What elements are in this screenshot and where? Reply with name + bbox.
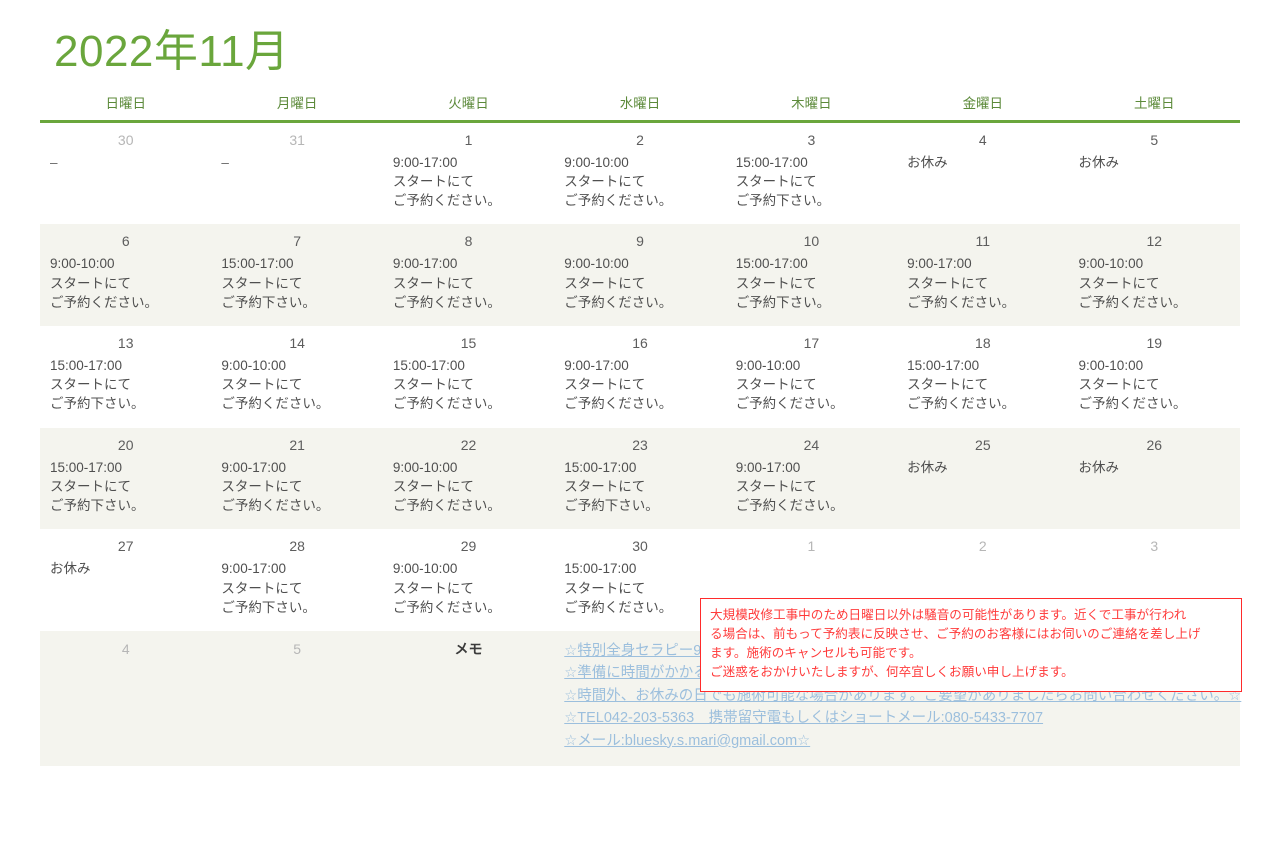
day-cell[interactable]: 1515:00-17:00 スタートにて ご予約ください。	[383, 326, 554, 428]
day-entry: –	[50, 153, 201, 172]
day-cell[interactable]: 4お休み	[897, 121, 1068, 224]
weekday-header-thursday: 木曜日	[726, 86, 897, 122]
day-cell[interactable]: 229:00-10:00 スタートにて ご予約ください。	[383, 428, 554, 530]
day-cell[interactable]: 149:00-10:00 スタートにて ご予約ください。	[211, 326, 382, 428]
day-entry: 9:00-10:00 スタートにて ご予約ください。	[1079, 356, 1230, 413]
notice-line-4: ご迷惑をおかけいたしますが、何卒宜しくお願い申し上げます。	[710, 663, 1232, 682]
weekday-header-row: 日曜日 月曜日 火曜日 水曜日 木曜日 金曜日 土曜日	[40, 86, 1240, 122]
day-number: 10	[736, 232, 887, 250]
notice-line-2: る場合は、前もって予約表に反映させ、ご予約のお客様にはお伺いのご連絡を差し上げ	[710, 625, 1232, 644]
day-entry: 9:00-10:00 スタートにて ご予約ください。	[564, 254, 715, 311]
memo-cell-next-month-4: 4	[40, 631, 211, 766]
day-number: 26	[1079, 436, 1230, 454]
day-entry: 15:00-17:00 スタートにて ご予約下さい。	[221, 254, 372, 311]
day-cell[interactable]: 169:00-17:00 スタートにて ご予約ください。	[554, 326, 725, 428]
day-number: 18	[907, 334, 1058, 352]
day-number: 15	[393, 334, 544, 352]
day-entry: 15:00-17:00 スタートにて ご予約下さい。	[736, 153, 887, 210]
day-number: 16	[564, 334, 715, 352]
day-cell[interactable]: 715:00-17:00 スタートにて ご予約下さい。	[211, 224, 382, 326]
day-entry: 15:00-17:00 スタートにて ご予約ください。	[393, 356, 544, 413]
calendar-page: 2022年11月 日曜日 月曜日 火曜日 水曜日 木曜日 金曜日 土曜日 30–…	[0, 0, 1280, 857]
day-number: 30	[564, 537, 715, 555]
day-cell[interactable]: 249:00-17:00 スタートにて ご予約ください。	[726, 428, 897, 530]
day-cell[interactable]: 1815:00-17:00 スタートにて ご予約ください。	[897, 326, 1068, 428]
calendar-week-row: 69:00-10:00 スタートにて ご予約ください。 715:00-17:00…	[40, 224, 1240, 326]
day-number: 4	[50, 640, 201, 658]
day-number: 14	[221, 334, 372, 352]
day-cell[interactable]: 299:00-10:00 スタートにて ご予約ください。	[383, 529, 554, 631]
day-number: 1	[393, 131, 544, 149]
day-number: 13	[50, 334, 201, 352]
day-cell[interactable]: 179:00-10:00 スタートにて ご予約ください。	[726, 326, 897, 428]
day-cell[interactable]: 315:00-17:00 スタートにて ご予約下さい。	[726, 121, 897, 224]
day-entry: 9:00-17:00 スタートにて ご予約ください。	[736, 458, 887, 515]
weekday-header-friday: 金曜日	[897, 86, 1068, 122]
day-number: 3	[736, 131, 887, 149]
day-cell[interactable]: 5お休み	[1069, 121, 1240, 224]
day-number: 30	[50, 131, 201, 149]
day-entry: 15:00-17:00 スタートにて ご予約下さい。	[50, 356, 201, 413]
day-number: 17	[736, 334, 887, 352]
day-entry: 9:00-10:00 スタートにて ご予約ください。	[1079, 254, 1230, 311]
day-number: 31	[221, 131, 372, 149]
day-cell[interactable]: 31–	[211, 121, 382, 224]
day-number: 1	[736, 537, 887, 555]
day-number: 20	[50, 436, 201, 454]
day-number: 9	[564, 232, 715, 250]
day-cell[interactable]: 69:00-10:00 スタートにて ご予約ください。	[40, 224, 211, 326]
day-entry: お休み	[50, 559, 201, 578]
weekday-header-tuesday: 火曜日	[383, 86, 554, 122]
day-cell[interactable]: 26お休み	[1069, 428, 1240, 530]
memo-cell-next-month-5: 5	[211, 631, 382, 766]
day-entry: 9:00-10:00 スタートにて ご予約ください。	[221, 356, 372, 413]
day-cell[interactable]: 25お休み	[897, 428, 1068, 530]
day-entry: お休み	[907, 458, 1058, 477]
day-cell[interactable]: 129:00-10:00 スタートにて ご予約ください。	[1069, 224, 1240, 326]
day-number: 5	[221, 640, 372, 658]
day-cell[interactable]: 99:00-10:00 スタートにて ご予約ください。	[554, 224, 725, 326]
weekday-header-saturday: 土曜日	[1069, 86, 1240, 122]
day-entry: 15:00-17:00 スタートにて ご予約下さい。	[50, 458, 201, 515]
day-entry: お休み	[1079, 153, 1230, 172]
day-entry: 15:00-17:00 スタートにて ご予約下さい。	[564, 458, 715, 515]
day-number: 19	[1079, 334, 1230, 352]
weekday-header-wednesday: 水曜日	[554, 86, 725, 122]
day-number: 22	[393, 436, 544, 454]
day-number: 6	[50, 232, 201, 250]
weekday-header-monday: 月曜日	[211, 86, 382, 122]
day-entry: 9:00-17:00 スタートにて ご予約ください。	[564, 356, 715, 413]
day-cell[interactable]: 19:00-17:00 スタートにて ご予約ください。	[383, 121, 554, 224]
day-entry: 15:00-17:00 スタートにて ご予約下さい。	[736, 254, 887, 311]
day-entry: 9:00-10:00 スタートにて ご予約ください。	[50, 254, 201, 311]
day-cell[interactable]: 2015:00-17:00 スタートにて ご予約下さい。	[40, 428, 211, 530]
memo-link-telephone[interactable]: ☆TEL042-203-5363 携帯留守電もしくはショートメール:080-54…	[564, 707, 1230, 729]
day-cell[interactable]: 2315:00-17:00 スタートにて ご予約下さい。	[554, 428, 725, 530]
day-number: 4	[907, 131, 1058, 149]
page-title: 2022年11月	[40, 0, 1240, 86]
day-number: 28	[221, 537, 372, 555]
day-number: 3	[1079, 537, 1230, 555]
day-cell[interactable]: 1015:00-17:00 スタートにて ご予約下さい。	[726, 224, 897, 326]
memo-label-cell: メモ	[383, 631, 554, 766]
day-number: 12	[1079, 232, 1230, 250]
memo-label: メモ	[393, 640, 544, 660]
day-entry: 9:00-17:00 スタートにて ご予約ください。	[907, 254, 1058, 311]
day-cell[interactable]: 119:00-17:00 スタートにて ご予約ください。	[897, 224, 1068, 326]
day-number: 27	[50, 537, 201, 555]
day-number: 8	[393, 232, 544, 250]
day-entry: 9:00-17:00 スタートにて ご予約ください。	[393, 254, 544, 311]
day-cell[interactable]: 29:00-10:00 スタートにて ご予約ください。	[554, 121, 725, 224]
day-cell[interactable]: 199:00-10:00 スタートにて ご予約ください。	[1069, 326, 1240, 428]
construction-notice-box: 大規模改修工事中のため日曜日以外は騒音の可能性があります。近くで工事が行われ る…	[700, 598, 1242, 692]
day-entry: お休み	[1079, 458, 1230, 477]
weekday-header-sunday: 日曜日	[40, 86, 211, 122]
day-number: 23	[564, 436, 715, 454]
calendar-week-row: 1315:00-17:00 スタートにて ご予約下さい。 149:00-10:0…	[40, 326, 1240, 428]
day-cell[interactable]: 89:00-17:00 スタートにて ご予約ください。	[383, 224, 554, 326]
calendar-header: 日曜日 月曜日 火曜日 水曜日 木曜日 金曜日 土曜日	[40, 86, 1240, 122]
day-entry: 9:00-10:00 スタートにて ご予約ください。	[564, 153, 715, 210]
day-number: 5	[1079, 131, 1230, 149]
day-entry: 9:00-10:00 スタートにて ご予約ください。	[393, 559, 544, 616]
day-cell[interactable]: 289:00-17:00 スタートにて ご予約下さい。	[211, 529, 382, 631]
day-number: 7	[221, 232, 372, 250]
day-entry: 15:00-17:00 スタートにて ご予約ください。	[907, 356, 1058, 413]
calendar-week-row: 30– 31– 19:00-17:00 スタートにて ご予約ください。 29:0…	[40, 121, 1240, 224]
day-number: 25	[907, 436, 1058, 454]
day-number: 29	[393, 537, 544, 555]
day-entry: 9:00-17:00 スタートにて ご予約ください。	[221, 458, 372, 515]
day-cell[interactable]: 30–	[40, 121, 211, 224]
day-entry: 9:00-10:00 スタートにて ご予約ください。	[736, 356, 887, 413]
day-entry: 9:00-10:00 スタートにて ご予約ください。	[393, 458, 544, 515]
day-entry: お休み	[907, 153, 1058, 172]
day-cell[interactable]: 27お休み	[40, 529, 211, 631]
memo-link-email[interactable]: ☆メール:bluesky.s.mari@gmail.com☆	[564, 730, 1230, 752]
day-number: 24	[736, 436, 887, 454]
day-entry: 9:00-17:00 スタートにて ご予約ください。	[393, 153, 544, 210]
notice-line-3: ます。施術のキャンセルも可能です。	[710, 644, 1232, 663]
day-number: 2	[907, 537, 1058, 555]
day-entry: –	[221, 153, 372, 172]
notice-line-1: 大規模改修工事中のため日曜日以外は騒音の可能性があります。近くで工事が行われ	[710, 606, 1232, 625]
day-number: 2	[564, 131, 715, 149]
day-cell[interactable]: 1315:00-17:00 スタートにて ご予約下さい。	[40, 326, 211, 428]
day-number: 21	[221, 436, 372, 454]
day-number: 11	[907, 232, 1058, 250]
day-entry: 15:00-17:00 スタートにて ご予約ください。	[564, 559, 715, 616]
day-cell[interactable]: 219:00-17:00 スタートにて ご予約ください。	[211, 428, 382, 530]
day-entry: 9:00-17:00 スタートにて ご予約下さい。	[221, 559, 372, 616]
calendar-week-row: 2015:00-17:00 スタートにて ご予約下さい。 219:00-17:0…	[40, 428, 1240, 530]
